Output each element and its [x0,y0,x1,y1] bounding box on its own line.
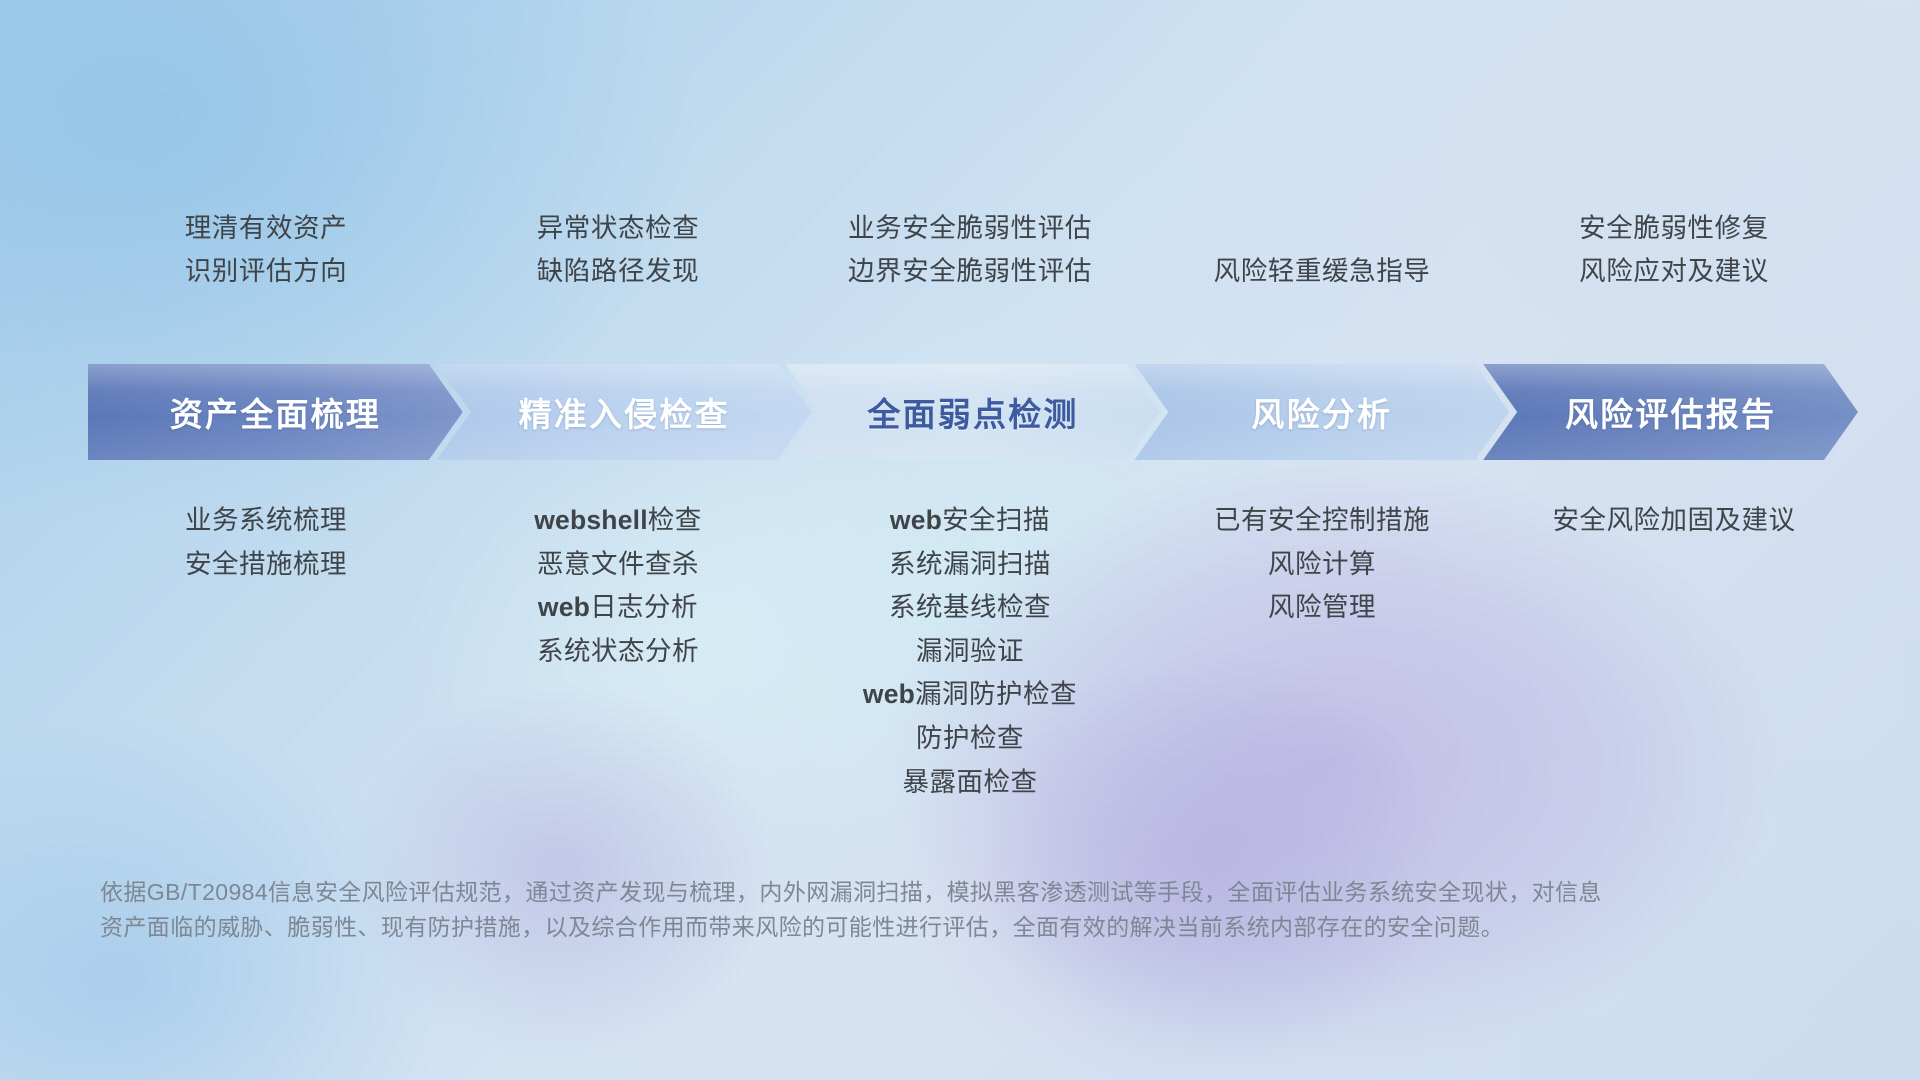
caption-text: 风险轻重缓急指导 [1214,258,1431,285]
caption-text: 异常状态检查 [537,215,700,242]
latin-token: web [863,679,915,709]
latin-token: web [538,592,590,622]
footer-description: 依据GB/T20984信息安全风险评估规范，通过资产发现与梳理，内外网漏洞扫描，… [100,875,1610,945]
top-caption-group-1: 理清有效资产 识别评估方向 [90,215,442,350]
list-item: web日志分析 [538,593,698,622]
cjk-token: 安全扫描 [942,505,1050,535]
list-item: webshell检查 [534,506,702,535]
caption-text: 安全脆弱性修复 [1579,215,1769,242]
top-captions-row: 理清有效资产 识别评估方向 异常状态检查 缺陷路径发现 业务安全脆弱性评估 边界… [90,215,1850,350]
stage-label: 风险分析 [1251,388,1392,436]
top-caption-group-2: 异常状态检查 缺陷路径发现 [442,215,794,350]
list-item: 系统状态分析 [537,637,699,666]
list-item: 漏洞验证 [916,637,1024,666]
detail-list-intrusion-check: webshell检查 恶意文件查杀 web日志分析 系统状态分析 [442,506,794,665]
stage-label: 风险评估报告 [1565,388,1776,436]
stage-label: 精准入侵检查 [519,388,730,436]
list-item: 防护检查 [916,724,1024,753]
stage-chevron-risk-report[interactable]: 风险评估报告 [1483,364,1858,460]
footer-paragraph: 依据GB/T20984信息安全风险评估规范，通过资产发现与梳理，内外网漏洞扫描，… [100,875,1610,945]
stage-chevron-weakness-detection[interactable]: 全面弱点检测 [786,364,1161,460]
caption-text: 风险应对及建议 [1579,258,1769,285]
detail-list-asset-inventory: 业务系统梳理 安全措施梳理 [90,506,442,578]
cjk-token: 漏洞防护检查 [915,679,1077,709]
caption-text: 识别评估方向 [185,258,348,285]
top-caption-group-5: 安全脆弱性修复 风险应对及建议 [1498,215,1850,350]
list-item: 安全风险加固及建议 [1553,506,1796,535]
latin-token: webshell [534,505,648,535]
list-item: 安全措施梳理 [185,550,347,579]
process-diagram: 理清有效资产 识别评估方向 异常状态检查 缺陷路径发现 业务安全脆弱性评估 边界… [0,0,1920,1080]
stage-label: 资产全面梳理 [170,388,381,436]
stage-chevron-band: 资产全面梳理 精准入侵检查 全面弱点检测 风险分析 风险评估报告 [88,364,1858,460]
cjk-token: 日志分析 [590,592,698,622]
caption-text: 边界安全脆弱性评估 [848,258,1092,285]
stage-chevron-risk-analysis[interactable]: 风险分析 [1134,364,1509,460]
list-item: 已有安全控制措施 [1214,506,1430,535]
list-item: 系统基线检查 [889,593,1051,622]
top-caption-group-3: 业务安全脆弱性评估 边界安全脆弱性评估 [794,215,1146,350]
caption-text: 业务安全脆弱性评估 [848,215,1092,242]
stage-label: 全面弱点检测 [867,388,1078,436]
stage-chevron-asset-inventory[interactable]: 资产全面梳理 [88,364,463,460]
stage-chevron-intrusion-check[interactable]: 精准入侵检查 [437,364,812,460]
detail-list-risk-analysis: 已有安全控制措施 风险计算 风险管理 [1146,506,1498,622]
list-item: 风险计算 [1268,550,1376,579]
list-item: 恶意文件查杀 [537,550,699,579]
list-item: 暴露面检查 [903,768,1038,797]
caption-text: 缺陷路径发现 [537,258,700,285]
list-item: 系统漏洞扫描 [889,550,1051,579]
list-item: 业务系统梳理 [185,506,347,535]
detail-list-weakness-detection: web安全扫描 系统漏洞扫描 系统基线检查 漏洞验证 web漏洞防护检查 防护检… [794,506,1146,796]
list-item: web安全扫描 [890,506,1050,535]
latin-token: web [890,505,942,535]
bottom-detail-row: 业务系统梳理 安全措施梳理 webshell检查 恶意文件查杀 web日志分析 … [90,506,1850,796]
detail-list-risk-report: 安全风险加固及建议 [1498,506,1850,535]
list-item: web漏洞防护检查 [863,680,1077,709]
list-item: 风险管理 [1268,593,1376,622]
caption-text: 理清有效资产 [185,215,348,242]
cjk-token: 检查 [648,505,702,535]
top-caption-group-4: 风险轻重缓急指导 [1146,215,1498,350]
